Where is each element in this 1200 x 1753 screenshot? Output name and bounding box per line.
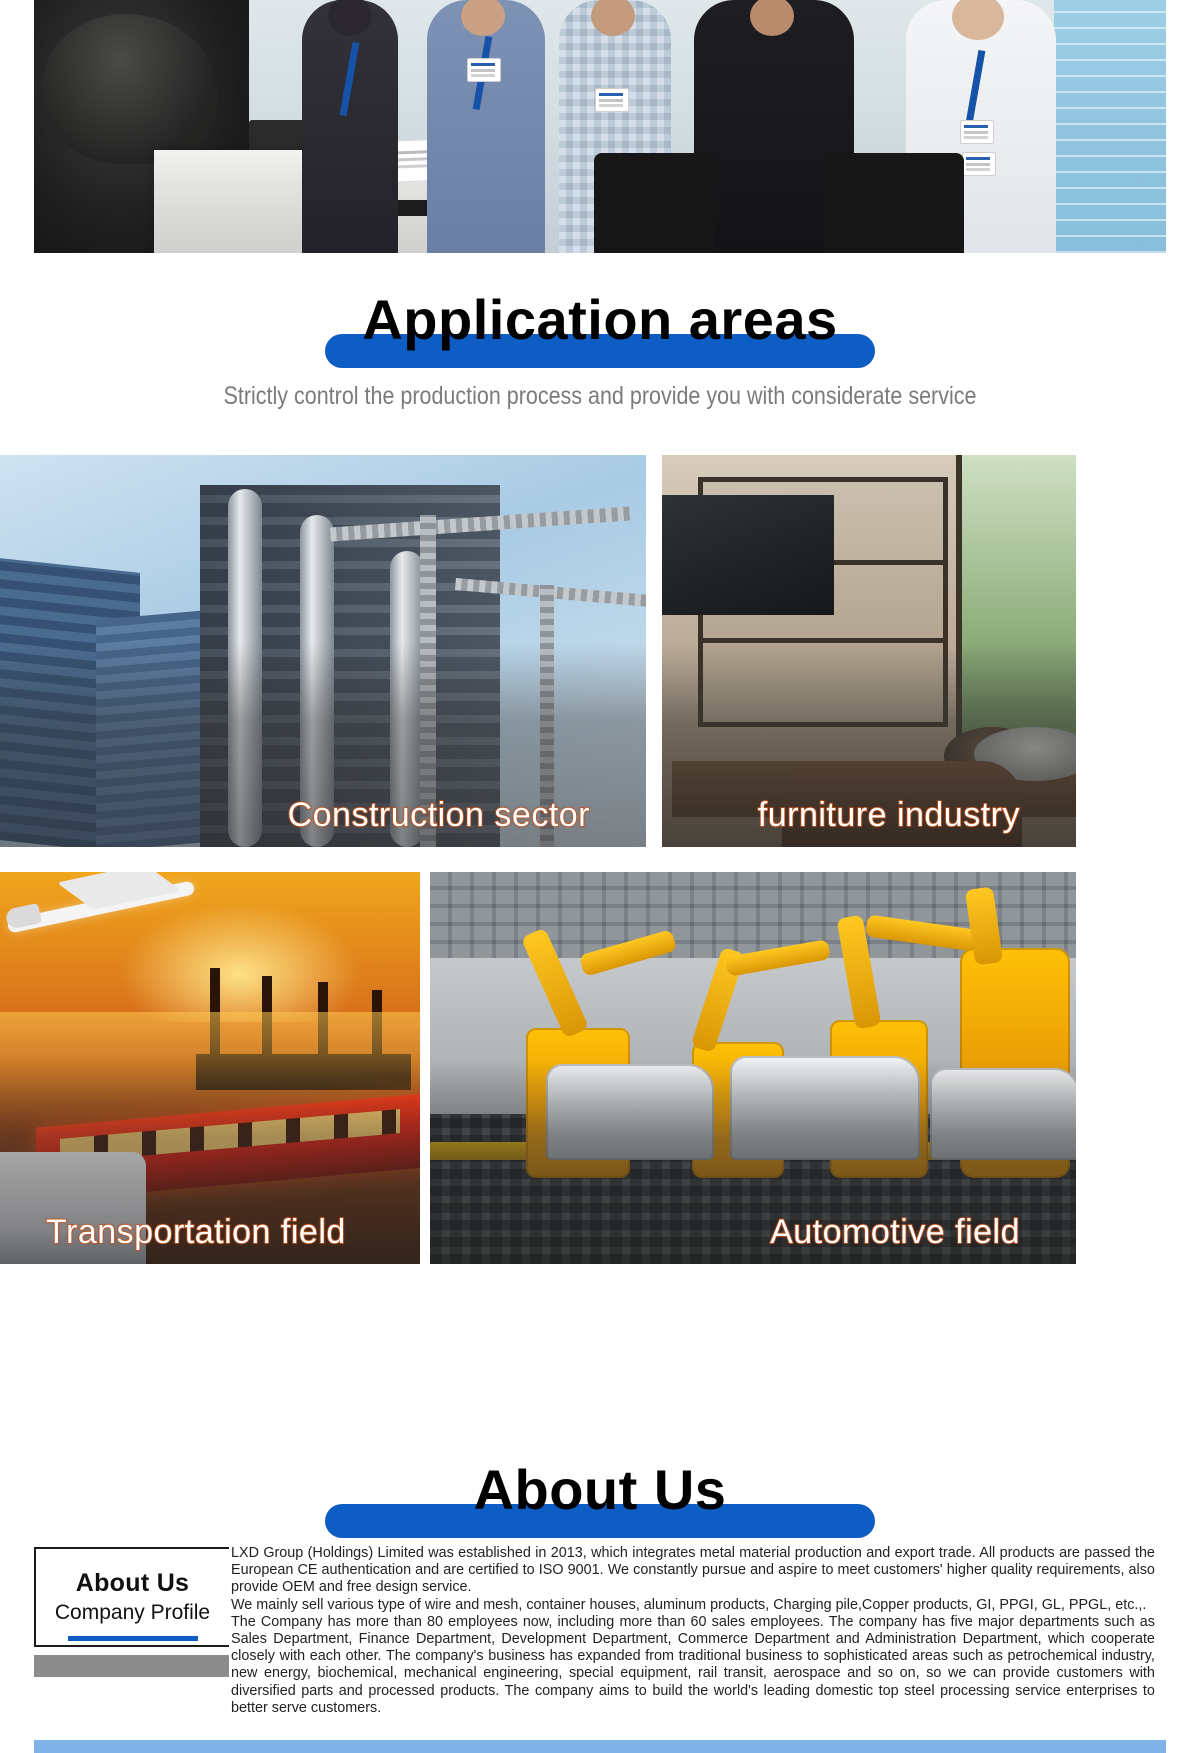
banner-badge-5 [960, 120, 994, 144]
banner-person-5-head [952, 0, 1004, 40]
application-card-caption: Transportation field [0, 1213, 420, 1252]
about-paragraph: We mainly sell various type of wire and … [231, 1597, 1155, 1614]
banner-chair-1 [594, 153, 714, 253]
application-areas-subtitle: Strictly control the production process … [84, 382, 1116, 411]
banner-lanyard-1 [340, 42, 360, 116]
about-profile-card: About Us Company Profile [34, 1547, 229, 1647]
furniture-tv [662, 495, 834, 615]
about-title: About Us [0, 1452, 1200, 1528]
banner-badge-5b [962, 152, 996, 176]
about-card-title: About Us [36, 1569, 229, 1598]
about-card-subtitle: Company Profile [36, 1601, 229, 1625]
banner-person-2 [427, 0, 545, 253]
about-paragraphs: LXD Group (Holdings) Limited was establi… [231, 1545, 1155, 1717]
application-card-furniture[interactable]: furniture industry [662, 455, 1076, 847]
banner-glass-wall [1054, 0, 1166, 253]
banner-badge-2 [467, 58, 501, 82]
application-card-automotive[interactable]: Automotive field [430, 872, 1076, 1264]
banner-person-2-head [461, 0, 505, 36]
banner-person-1-head [328, 0, 372, 36]
application-card-construction[interactable]: Construction sector [0, 455, 646, 847]
banner-person-3-head [591, 0, 635, 36]
page-title: Application areas [0, 282, 1200, 358]
application-card-caption: Automotive field [430, 1213, 1076, 1252]
application-areas-heading: Application areas [0, 282, 1200, 358]
banner-badge-3 [595, 88, 629, 112]
application-card-caption: furniture industry [662, 796, 1076, 835]
about-paragraph: LXD Group (Holdings) Limited was establi… [231, 1545, 1155, 1597]
banner-person-1 [302, 0, 398, 253]
banner-person-4-head [750, 0, 794, 36]
hero-banner-photo [34, 0, 1166, 253]
about-card-shadow [34, 1655, 229, 1677]
application-card-caption: Construction sector [0, 796, 646, 835]
about-card-accent-rule [68, 1636, 198, 1641]
banner-chair-2 [824, 153, 964, 253]
application-card-transportation[interactable]: Transportation field [0, 872, 420, 1264]
about-blue-strip [34, 1740, 1166, 1753]
about-us-heading: About Us [0, 1452, 1200, 1528]
banner-lanyard-5 [966, 50, 986, 124]
page-root: Application areas Strictly control the p… [0, 0, 1200, 1753]
about-paragraph: The Company has more than 80 employees n… [231, 1614, 1155, 1717]
